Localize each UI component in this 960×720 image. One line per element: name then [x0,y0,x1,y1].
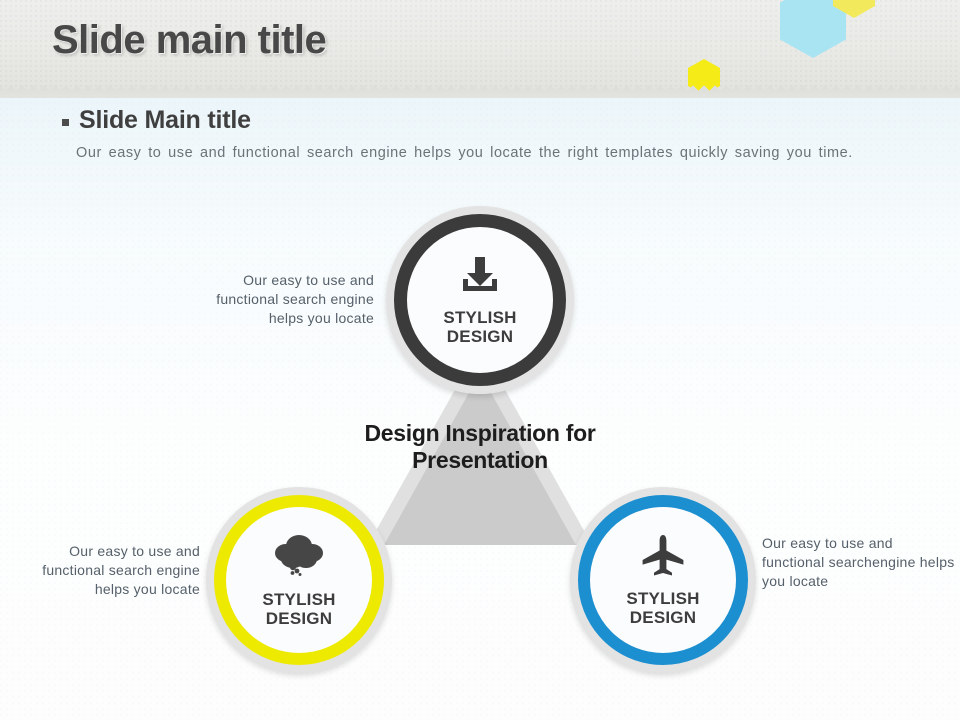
node-bottom-right-label-line2: DESIGN [630,608,696,627]
node-top-label-line2: DESIGN [447,327,513,346]
node-bottom-left-label: STYLISH DESIGN [262,590,335,628]
cloud-icon [273,533,325,584]
zigzag-divider [0,84,960,98]
node-bottom-left-label-line2: DESIGN [266,609,332,628]
bullet-square-icon [62,119,69,126]
node-bottom-left-label-line1: STYLISH [262,590,335,609]
slide-main-title: Slide main title [52,18,326,63]
node-bottom-left[interactable]: STYLISH DESIGN [214,495,384,665]
node-bottom-right-label: STYLISH DESIGN [626,589,699,627]
node-bottom-right[interactable]: STYLISH DESIGN [578,495,748,665]
node-top[interactable]: STYLISH DESIGN [394,214,566,386]
download-icon [458,255,502,302]
node-bottom-right-label-line1: STYLISH [626,589,699,608]
caption-top-left: Our easy to use and functional search en… [178,271,374,328]
node-top-label: STYLISH DESIGN [443,308,516,346]
airplane-icon [640,534,686,583]
sub-title: Slide Main title [79,106,251,135]
sub-title-row: Slide Main title [62,106,251,135]
caption-bottom-right: Our easy to use and functional searcheng… [762,534,958,591]
caption-bottom-left: Our easy to use and functional search en… [8,542,200,599]
sub-description: Our easy to use and functional search en… [76,145,906,161]
node-top-label-line1: STYLISH [443,308,516,327]
slide-canvas: Slide main title Slide Main title Our ea… [0,0,960,720]
triangle-center-text: Design Inspiration for Presentation [350,420,610,474]
